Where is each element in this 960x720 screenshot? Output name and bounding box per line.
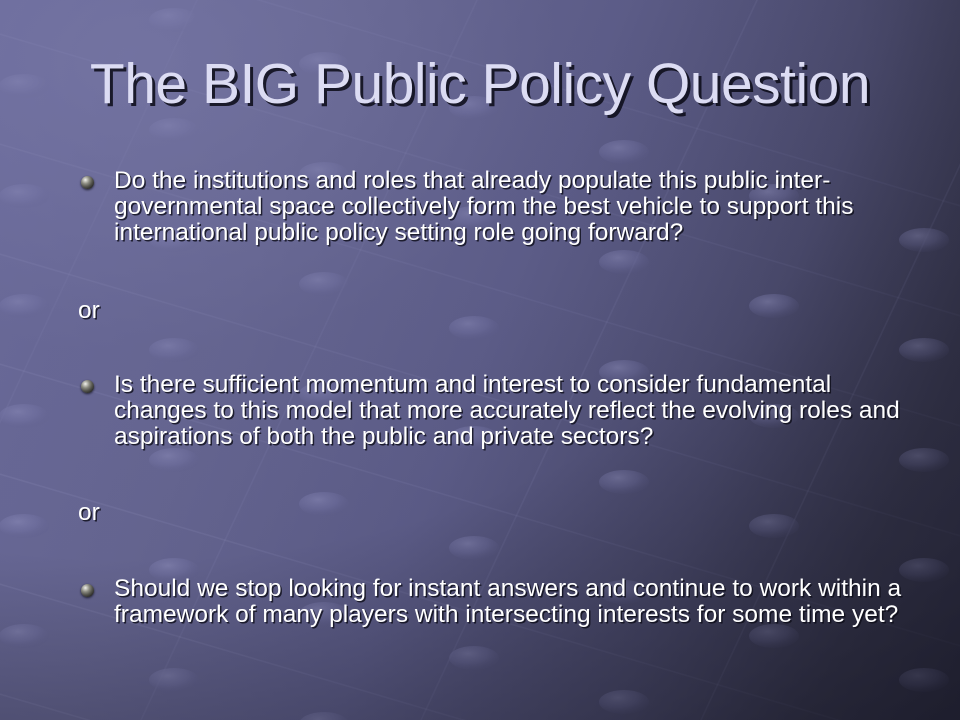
bullet-item-text: Should we stop looking for instant answe… (114, 576, 916, 628)
spacer (0, 324, 960, 372)
connector-or-text: or (78, 500, 960, 526)
presentation-slide: The BIG Public Policy Question Do the in… (0, 0, 960, 720)
connector-or: or (0, 298, 960, 324)
connector-or-text: or (78, 298, 960, 324)
bullet-item: Is there sufficient momentum and interes… (0, 372, 960, 450)
slide-title: The BIG Public Policy Question (0, 52, 960, 116)
sphere-bullet-icon (81, 176, 94, 189)
slide-body: Do the institutions and roles that alrea… (0, 168, 960, 628)
spacer (0, 450, 960, 500)
bullet-item-text: Do the institutions and roles that alrea… (114, 168, 916, 246)
bullet-item: Should we stop looking for instant answe… (0, 576, 960, 628)
bullet-item-text: Is there sufficient momentum and interes… (114, 372, 916, 450)
spacer (0, 246, 960, 298)
sphere-bullet-icon (81, 380, 94, 393)
spacer (0, 526, 960, 576)
sphere-bullet-icon (81, 584, 94, 597)
connector-or: or (0, 500, 960, 526)
bullet-item: Do the institutions and roles that alrea… (0, 168, 960, 246)
